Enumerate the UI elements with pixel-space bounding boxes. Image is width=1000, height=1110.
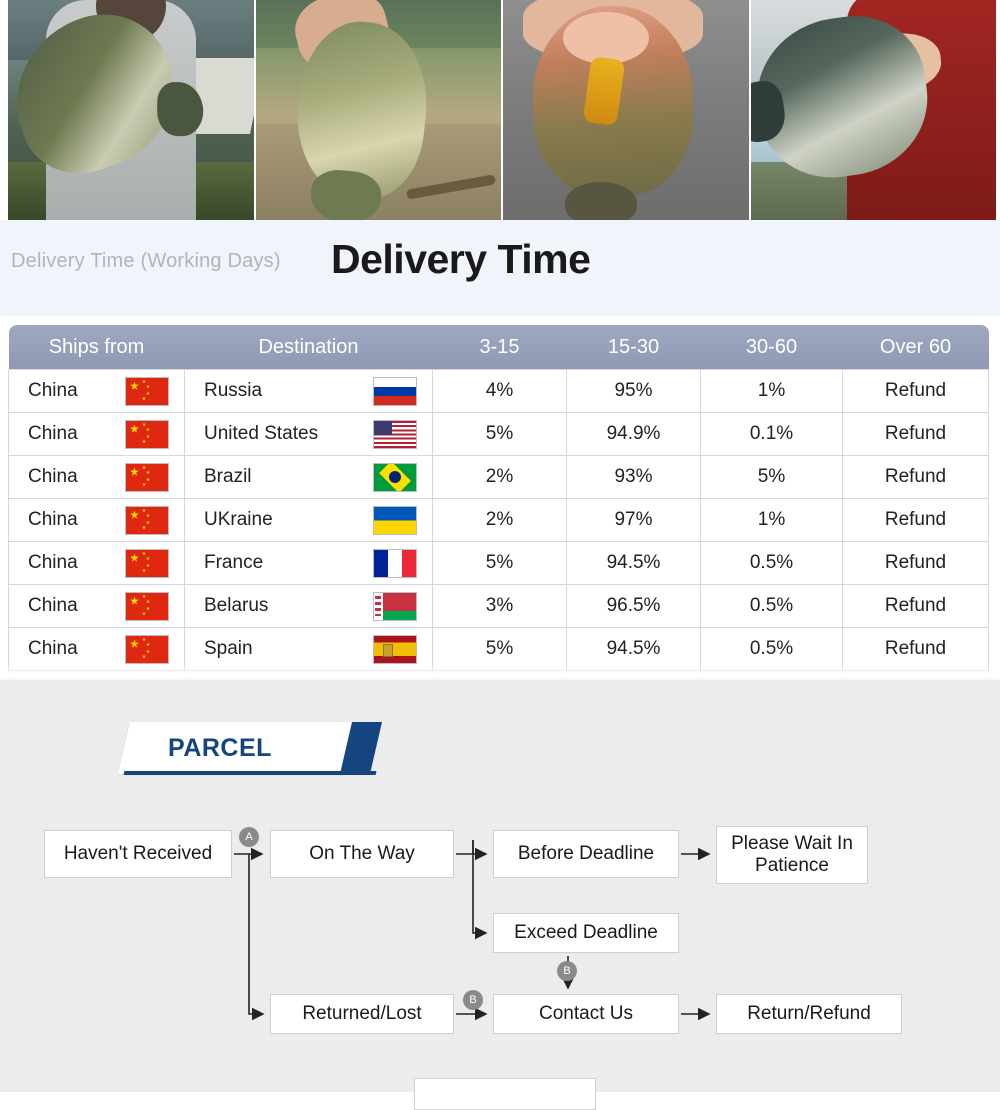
flow-node-exceed-deadline: Exceed Deadline <box>493 913 679 953</box>
fr-flag-icon <box>373 549 417 578</box>
cell-ships-from: China <box>9 456 185 499</box>
cell-3-15: 2% <box>433 456 567 499</box>
ships-from-label: China <box>28 638 78 660</box>
photo-strip <box>8 0 996 220</box>
destination-label: France <box>204 552 263 574</box>
cell-ships-from: China <box>9 499 185 542</box>
cell-over-60: Refund <box>843 370 989 413</box>
cell-destination: Spain <box>185 628 433 671</box>
cell-30-60: 0.5% <box>701 542 843 585</box>
cn-flag-icon <box>125 463 169 492</box>
destination-label: Spain <box>204 638 253 660</box>
column-header-3-15: 3-15 <box>433 325 567 370</box>
cell-ships-from: China <box>9 542 185 585</box>
cell-over-60: Refund <box>843 628 989 671</box>
delivery-time-header: Delivery Time (Working Days) Delivery Ti… <box>0 220 1000 316</box>
cn-flag-icon <box>125 420 169 449</box>
cell-ships-from: China <box>9 413 185 456</box>
cell-30-60: 1% <box>701 499 843 542</box>
cn-flag-icon <box>125 377 169 406</box>
es-flag-icon <box>373 635 417 664</box>
cn-flag-icon <box>125 549 169 578</box>
cn-flag-icon <box>125 592 169 621</box>
column-header-ships-from: Ships from <box>9 325 185 370</box>
cell-destination: UKraine <box>185 499 433 542</box>
cell-destination: Russia <box>185 370 433 413</box>
cell-over-60: Refund <box>843 542 989 585</box>
cell-30-60: 0.5% <box>701 585 843 628</box>
cell-15-30: 97% <box>567 499 701 542</box>
destination-label: Brazil <box>204 466 252 488</box>
cell-over-60: Refund <box>843 585 989 628</box>
cell-destination: France <box>185 542 433 585</box>
column-header-destination: Destination <box>185 325 433 370</box>
table-body: ChinaRussia4%95%1%RefundChinaUnited Stat… <box>9 370 989 714</box>
cell-ships-from: China <box>9 585 185 628</box>
ships-from-label: China <box>28 509 78 531</box>
photo-fish-mouth <box>563 12 649 64</box>
cell-3-15: 2% <box>433 499 567 542</box>
column-header-over-60: Over 60 <box>843 325 989 370</box>
cell-15-30: 96.5% <box>567 585 701 628</box>
delivery-title: Delivery Time <box>331 236 590 283</box>
table-row: ChinaFrance5%94.5%0.5%Refund <box>9 542 989 585</box>
flow-node-before-deadline: Before Deadline <box>493 830 679 878</box>
cell-30-60: 0.1% <box>701 413 843 456</box>
cell-over-60: Refund <box>843 456 989 499</box>
photo-fish-tail <box>565 182 637 220</box>
flow-node-contact-us: Contact Us <box>493 994 679 1034</box>
cell-15-30: 94.5% <box>567 542 701 585</box>
delivery-subtitle: Delivery Time (Working Days) <box>11 250 281 273</box>
flow-node-returned-lost: Returned/Lost <box>270 994 454 1034</box>
flow-node-please-wait-in-patience: Please Wait In Patience <box>716 826 868 884</box>
photo-angler-red-shirt-bass <box>751 0 997 220</box>
ships-from-label: China <box>28 423 78 445</box>
flow-badge-a: A <box>239 827 259 847</box>
ships-from-label: China <box>28 380 78 402</box>
cell-3-15: 3% <box>433 585 567 628</box>
flow-node-return-refund: Return/Refund <box>716 994 902 1034</box>
flow-bottom-box <box>414 1078 596 1110</box>
product-description-page: Delivery Time (Working Days) Delivery Ti… <box>0 0 1000 1092</box>
cell-15-30: 94.5% <box>567 628 701 671</box>
flow-badge-b-returned: B <box>463 990 483 1010</box>
flow-badge-b-exceed: B <box>557 961 577 981</box>
table-row: ChinaBelarus3%96.5%0.5%Refund <box>9 585 989 628</box>
table-row: ChinaSpain5%94.5%0.5%Refund <box>9 628 989 671</box>
destination-label: United States <box>204 423 318 445</box>
cn-flag-icon <box>125 635 169 664</box>
photo-angler-smallmouth-bass <box>256 0 502 220</box>
cell-15-30: 94.9% <box>567 413 701 456</box>
ua-flag-icon <box>373 506 417 535</box>
cell-30-60: 5% <box>701 456 843 499</box>
table-header-row: Ships from Destination 3-15 15-30 30-60 … <box>9 325 989 370</box>
destination-label: Belarus <box>204 595 268 617</box>
cell-15-30: 93% <box>567 456 701 499</box>
table-row: ChinaUnited States5%94.9%0.1%Refund <box>9 413 989 456</box>
ru-flag-icon <box>373 377 417 406</box>
cell-over-60: Refund <box>843 499 989 542</box>
cell-30-60: 1% <box>701 370 843 413</box>
cell-3-15: 5% <box>433 628 567 671</box>
cell-destination: Brazil <box>185 456 433 499</box>
parcel-flow-diagram: Haven't Received On The Way Before Deadl… <box>0 680 1000 1092</box>
cell-ships-from: China <box>9 628 185 671</box>
photo-angler-largemouth-bass <box>8 0 254 220</box>
ships-from-label: China <box>28 595 78 617</box>
cell-over-60: Refund <box>843 413 989 456</box>
cell-ships-from: China <box>9 370 185 413</box>
by-flag-icon <box>373 592 417 621</box>
delivery-time-table-wrapper: Ships from Destination 3-15 15-30 30-60 … <box>8 325 988 714</box>
cell-3-15: 5% <box>433 413 567 456</box>
br-flag-icon <box>373 463 417 492</box>
cell-30-60: 0.5% <box>701 628 843 671</box>
table-row: ChinaBrazil2%93%5%Refund <box>9 456 989 499</box>
destination-label: Russia <box>204 380 262 402</box>
table-row: ChinaUKraine2%97%1%Refund <box>9 499 989 542</box>
destination-label: UKraine <box>204 509 273 531</box>
column-header-15-30: 15-30 <box>567 325 701 370</box>
flow-node-on-the-way: On The Way <box>270 830 454 878</box>
cell-destination: Belarus <box>185 585 433 628</box>
us-flag-icon <box>373 420 417 449</box>
parcel-flow-section: PARCEL <box>0 680 1000 1092</box>
column-header-30-60: 30-60 <box>701 325 843 370</box>
photo-fish-mouth-with-lure <box>503 0 749 220</box>
cell-3-15: 5% <box>433 542 567 585</box>
cell-15-30: 95% <box>567 370 701 413</box>
delivery-time-table: Ships from Destination 3-15 15-30 30-60 … <box>8 325 989 714</box>
cell-destination: United States <box>185 413 433 456</box>
ships-from-label: China <box>28 466 78 488</box>
cn-flag-icon <box>125 506 169 535</box>
table-row: ChinaRussia4%95%1%Refund <box>9 370 989 413</box>
flow-node-havent-received: Haven't Received <box>44 830 232 878</box>
ships-from-label: China <box>28 552 78 574</box>
cell-3-15: 4% <box>433 370 567 413</box>
